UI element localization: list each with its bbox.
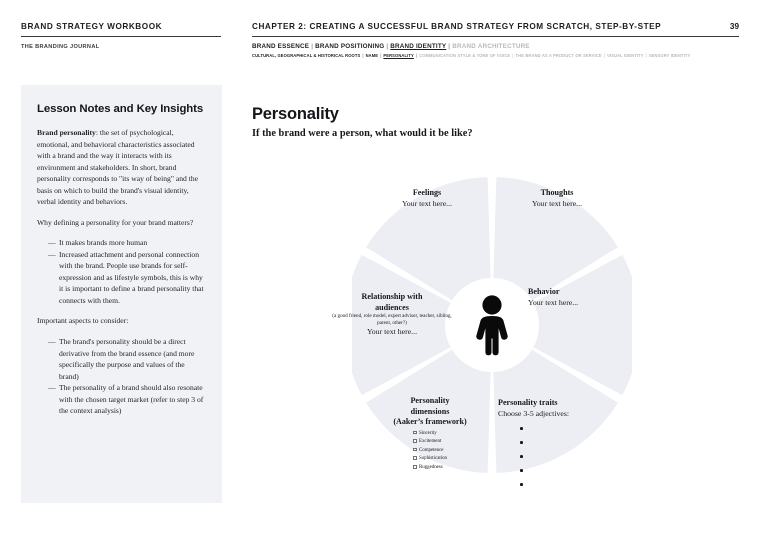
breadcrumb-item[interactable]: BRAND IDENTITY: [390, 43, 446, 50]
breadcrumb-item[interactable]: COMMUNICATION STYLE & TONE OF VOICE: [419, 53, 510, 58]
breadcrumb-item[interactable]: BRAND ESSENCE: [252, 43, 309, 50]
publisher-name: THE BRANDING JOURNAL: [21, 44, 221, 50]
checkbox-icon[interactable]: [413, 456, 417, 460]
breadcrumb-item[interactable]: SENSORY IDENTITY: [649, 53, 691, 58]
segment-traits-title: Personality traits: [498, 398, 630, 409]
lesson-notes-panel: Lesson Notes and Key Insights Brand pers…: [21, 85, 222, 503]
page-title: Personality: [252, 105, 339, 124]
definition-body: : the set of psychological, emotional, a…: [37, 128, 198, 206]
breadcrumb-primary[interactable]: BRAND ESSENCE|BRAND POSITIONING|BRAND ID…: [252, 43, 739, 51]
dimension-option[interactable]: Ruggedness: [413, 464, 447, 473]
segment-dimensions-title-3: (Aaker’s framework): [366, 417, 494, 428]
aspects-heading: Important aspects to consider:: [37, 315, 206, 327]
checkbox-icon[interactable]: [413, 448, 417, 452]
segment-feelings[interactable]: Feelings Your text here...: [362, 188, 492, 209]
trait-entry-line[interactable]: [498, 465, 630, 479]
segment-relationship-title-2: audiences: [326, 303, 458, 314]
question-heading: Why defining a personality for your bran…: [37, 217, 206, 229]
segment-behavior[interactable]: Behavior Your text here...: [528, 287, 632, 308]
segment-relationship-note: (a good friend, role model, expert advis…: [326, 313, 458, 327]
dimension-option-label: Competence: [419, 448, 443, 453]
dash-marker: —: [48, 237, 56, 249]
bullet-icon: [520, 483, 523, 486]
breadcrumb-item[interactable]: CULTURAL, GEOGRAPHICAL & HISTORICAL ROOT…: [252, 53, 360, 58]
dash-marker: —: [48, 249, 56, 261]
bullet-icon: [520, 469, 523, 472]
segment-relationship[interactable]: Relationship with audiences (a good frie…: [326, 292, 458, 338]
breadcrumb-secondary[interactable]: CULTURAL, GEOGRAPHICAL & HISTORICAL ROOT…: [252, 54, 739, 59]
dimensions-checklist-wrap: SincerityExcitementCompetenceSophisticat…: [366, 428, 494, 473]
breadcrumb-item[interactable]: NAME: [366, 53, 379, 58]
breadcrumb-item[interactable]: BRAND ARCHITECTURE: [452, 43, 530, 50]
dash-marker: —: [48, 382, 56, 394]
list-item: —The brand's personality should be a dir…: [48, 336, 206, 382]
segment-traits[interactable]: Personality traits Choose 3-5 adjectives…: [498, 398, 630, 493]
workbook-page: BRAND STRATEGY WORKBOOK THE BRANDING JOU…: [0, 0, 760, 537]
header-right: CHAPTER 2: CREATING A SUCCESSFUL BRAND S…: [252, 22, 739, 59]
segment-feelings-input[interactable]: Your text here...: [362, 199, 492, 210]
personality-wheel: Feelings Your text here... Thoughts Your…: [352, 160, 632, 490]
list-item-text: The personality of a brand should also r…: [59, 383, 203, 415]
checkbox-icon[interactable]: [413, 465, 417, 469]
dimension-option-label: Ruggedness: [419, 465, 443, 470]
aspects-list: —The brand's personality should be a dir…: [48, 336, 206, 417]
header-rule-right: [252, 36, 739, 37]
list-item: —The personality of a brand should also …: [48, 382, 206, 417]
list-item: —Increased attachment and personal conne…: [48, 249, 206, 307]
dimension-option[interactable]: Excitement: [413, 438, 447, 447]
breadcrumb-item[interactable]: THE BRAND AS A PRODUCT OR SERVICE: [516, 53, 602, 58]
dimension-option[interactable]: Competence: [413, 447, 447, 456]
breadcrumb-item[interactable]: BRAND POSITIONING: [315, 43, 384, 50]
reasons-list: —It makes brands more human—Increased at…: [48, 237, 206, 306]
definition-term: Brand personality: [37, 128, 96, 137]
segment-traits-instruction: Choose 3-5 adjectives:: [498, 409, 630, 420]
dimension-option-label: Sophistication: [419, 456, 447, 461]
segment-feelings-title: Feelings: [362, 188, 492, 199]
dimension-option[interactable]: Sophistication: [413, 455, 447, 464]
chapter-title: CHAPTER 2: CREATING A SUCCESSFUL BRAND S…: [252, 22, 739, 31]
trait-entry-line[interactable]: [498, 423, 630, 437]
definition-paragraph: Brand personality: the set of psychologi…: [37, 127, 206, 208]
panel-title: Lesson Notes and Key Insights: [37, 103, 206, 115]
dimension-option[interactable]: Sincerity: [413, 430, 447, 439]
dimensions-checklist[interactable]: SincerityExcitementCompetenceSophisticat…: [413, 430, 447, 473]
segment-relationship-input[interactable]: Your text here...: [326, 327, 458, 338]
segment-dimensions[interactable]: Personality dimensions (Aaker’s framewor…: [366, 396, 494, 473]
list-item: —It makes brands more human: [48, 237, 206, 249]
traits-bullet-list[interactable]: [498, 423, 630, 493]
trait-entry-line[interactable]: [498, 451, 630, 465]
segment-behavior-input[interactable]: Your text here...: [528, 298, 632, 309]
breadcrumb-item[interactable]: VISUAL IDENTITY: [607, 53, 644, 58]
segment-dimensions-title-1: Personality: [366, 396, 494, 407]
list-item-text: The brand's personality should be a dire…: [59, 337, 194, 381]
dimension-option-label: Sincerity: [419, 431, 437, 436]
checkbox-icon[interactable]: [413, 439, 417, 443]
trait-entry-line[interactable]: [498, 479, 630, 493]
page-subtitle: If the brand were a person, what would i…: [252, 128, 473, 139]
book-title: BRAND STRATEGY WORKBOOK: [21, 22, 221, 31]
bullet-icon: [520, 441, 523, 444]
person-icon: [470, 294, 514, 356]
page-number: 39: [730, 22, 739, 31]
segment-thoughts[interactable]: Thoughts Your text here...: [492, 188, 622, 209]
header-left: BRAND STRATEGY WORKBOOK THE BRANDING JOU…: [21, 22, 221, 50]
checkbox-icon[interactable]: [413, 431, 417, 435]
dimension-option-label: Excitement: [419, 439, 441, 444]
segment-thoughts-title: Thoughts: [492, 188, 622, 199]
trait-entry-line[interactable]: [498, 437, 630, 451]
bullet-icon: [520, 455, 523, 458]
breadcrumb-item[interactable]: PERSONALITY: [383, 53, 413, 58]
segment-thoughts-input[interactable]: Your text here...: [492, 199, 622, 210]
dash-marker: —: [48, 336, 56, 348]
panel-body: Brand personality: the set of psychologi…: [37, 127, 206, 417]
header-rule-left: [21, 36, 221, 37]
list-item-text: It makes brands more human: [59, 238, 147, 247]
segment-relationship-title-1: Relationship with: [326, 292, 458, 303]
segment-dimensions-title-2: dimensions: [366, 407, 494, 418]
list-item-text: Increased attachment and personal connec…: [59, 250, 204, 305]
bullet-icon: [520, 427, 523, 430]
segment-behavior-title: Behavior: [528, 287, 632, 298]
